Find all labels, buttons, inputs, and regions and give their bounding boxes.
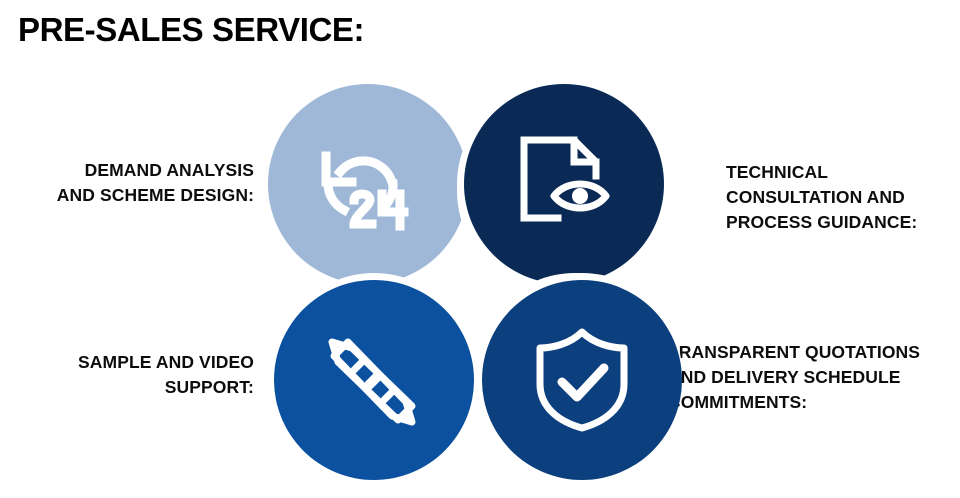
label-sample-video-support: SAMPLE AND VIDEO SUPPORT: <box>14 350 254 400</box>
label-transparent-quotations: TRANSPARENT QUOTATIONS AND DELIVERY SCHE… <box>668 340 960 415</box>
label-technical-consultation: TECHNICAL CONSULTATION AND PROCESS GUIDA… <box>726 160 956 235</box>
shield-check-icon <box>482 280 682 480</box>
service-circle-cluster <box>268 84 668 484</box>
label-demand-analysis: DEMAND ANALYSIS AND SCHEME DESIGN: <box>14 158 254 208</box>
service-circle-transparent-quotations[interactable] <box>482 280 682 480</box>
clock-24-arrow-icon <box>268 84 468 284</box>
page-title: PRE-SALES SERVICE: <box>18 12 364 48</box>
document-eye-icon <box>464 84 664 284</box>
service-circle-sample-video-support[interactable] <box>274 280 474 480</box>
pencil-ruler-icon <box>274 280 474 480</box>
service-circle-technical-consultation[interactable] <box>464 84 664 284</box>
service-circle-demand-analysis[interactable] <box>268 84 468 284</box>
